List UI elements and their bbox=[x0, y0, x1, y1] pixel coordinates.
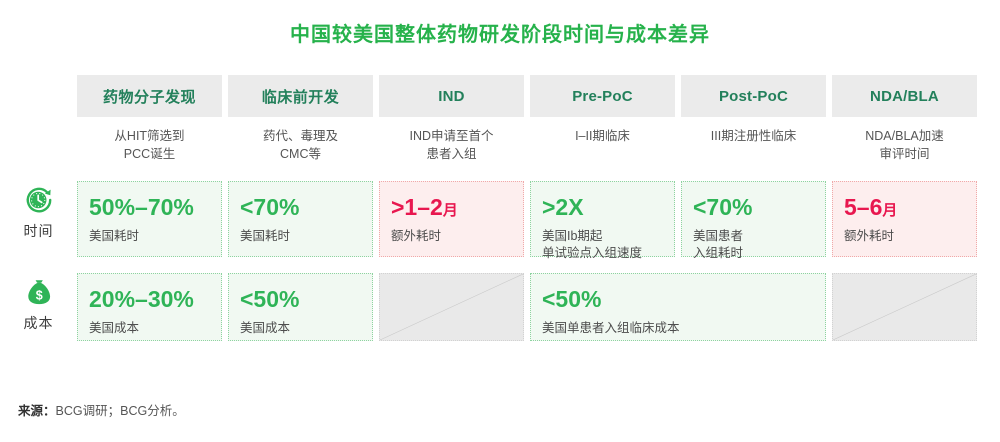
time-value-4: <70% bbox=[693, 194, 814, 224]
time-value-5: 5–6月 bbox=[844, 194, 965, 224]
time-cell-5[interactable]: 5–6月 额外耗时 bbox=[832, 181, 977, 257]
source-text: BCG调研；BCG分析。 bbox=[56, 404, 185, 418]
time-row: 50%–70% 美国耗时 <70% 美国耗时 >1–2月 额外耗时 >2X 美国… bbox=[77, 181, 980, 257]
time-value-1: <70% bbox=[240, 194, 361, 224]
time-value-0: 50%–70% bbox=[89, 194, 210, 224]
money-bag-icon: $ bbox=[0, 275, 77, 309]
row-label-cost: $ 成本 bbox=[0, 275, 77, 333]
time-cell-1[interactable]: <70% 美国耗时 bbox=[228, 181, 373, 257]
stage-caption-2: IND申请至首个 患者入组 bbox=[379, 127, 524, 163]
stage-header-3[interactable]: Pre-PoC bbox=[530, 75, 675, 117]
time-note-1: 美国耗时 bbox=[240, 228, 361, 245]
cost-note-3: 美国单患者入组临床成本 bbox=[542, 320, 814, 337]
time-cell-4[interactable]: <70% 美国患者 入组耗时 bbox=[681, 181, 826, 257]
row-label-time: 时间 bbox=[0, 183, 77, 241]
cost-note-0: 美国成本 bbox=[89, 320, 210, 337]
cost-value-3: <50% bbox=[542, 286, 814, 316]
stage-caption-5: NDA/BLA加速 审评时间 bbox=[832, 127, 977, 163]
time-note-0: 美国耗时 bbox=[89, 228, 210, 245]
row-label-cost-text: 成本 bbox=[24, 315, 54, 331]
cost-cell-1[interactable]: <50% 美国成本 bbox=[228, 273, 373, 341]
stage-header-0[interactable]: 药物分子发现 bbox=[77, 75, 222, 117]
stage-header-1[interactable]: 临床前开发 bbox=[228, 75, 373, 117]
time-cell-0[interactable]: 50%–70% 美国耗时 bbox=[77, 181, 222, 257]
time-note-4: 美国患者 入组耗时 bbox=[693, 228, 814, 262]
stage-caption-0: 从HIT筛选到 PCC诞生 bbox=[77, 127, 222, 163]
row-label-time-text: 时间 bbox=[24, 223, 54, 239]
infographic-canvas: 中国较美国整体药物研发阶段时间与成本差异 时间 $ bbox=[0, 0, 1000, 442]
stage-caption-4: III期注册性临床 bbox=[681, 127, 826, 145]
time-note-3: 美国Ib期起 单试验点入组速度 bbox=[542, 228, 663, 262]
cost-cell-3[interactable]: <50% 美国单患者入组临床成本 bbox=[530, 273, 826, 341]
row-label-rail: 时间 $ 成本 bbox=[0, 75, 77, 365]
stage-header-5[interactable]: NDA/BLA bbox=[832, 75, 977, 117]
cost-value-0: 20%–30% bbox=[89, 286, 210, 316]
svg-text:$: $ bbox=[35, 289, 42, 303]
clock-refresh-icon bbox=[0, 183, 77, 217]
source-note: 来源：BCG调研；BCG分析。 bbox=[18, 400, 185, 419]
stage-caption-3: I–II期临床 bbox=[530, 127, 675, 145]
time-value-3: >2X bbox=[542, 194, 663, 224]
source-label: 来源： bbox=[18, 404, 56, 418]
time-value-2: >1–2月 bbox=[391, 194, 512, 224]
stage-header-4[interactable]: Post-PoC bbox=[681, 75, 826, 117]
time-cell-2[interactable]: >1–2月 额外耗时 bbox=[379, 181, 524, 257]
cost-value-1: <50% bbox=[240, 286, 361, 316]
time-note-2: 额外耗时 bbox=[391, 228, 512, 245]
cost-cell-empty-nda bbox=[832, 273, 977, 341]
cost-cell-empty-ind bbox=[379, 273, 524, 341]
diagonal-strike-icon bbox=[380, 274, 523, 340]
diagonal-strike-icon bbox=[833, 274, 976, 340]
cost-row: 20%–30% 美国成本 <50% 美国成本 <50% 美国单患者入组临床成本 bbox=[77, 273, 980, 341]
stage-header-2[interactable]: IND bbox=[379, 75, 524, 117]
stage-grid: 药物分子发现 临床前开发 IND Pre-PoC Post-PoC NDA/BL… bbox=[77, 75, 980, 365]
time-cell-3[interactable]: >2X 美国Ib期起 单试验点入组速度 bbox=[530, 181, 675, 257]
time-note-5: 额外耗时 bbox=[844, 228, 965, 245]
cost-cell-0[interactable]: 20%–30% 美国成本 bbox=[77, 273, 222, 341]
stage-caption-1: 药代、毒理及 CMC等 bbox=[228, 127, 373, 163]
page-title: 中国较美国整体药物研发阶段时间与成本差异 bbox=[0, 18, 1000, 47]
cost-note-1: 美国成本 bbox=[240, 320, 361, 337]
